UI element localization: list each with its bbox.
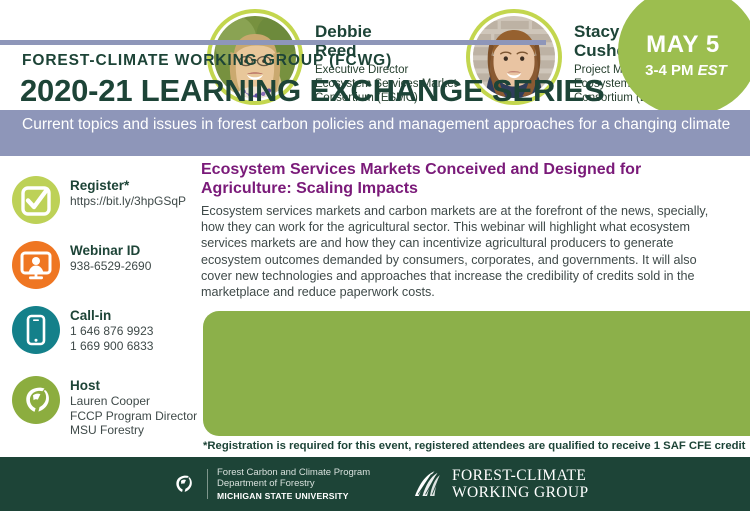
info-title-webinar-id: Webinar ID [70,243,151,259]
fcwg-line2: WORKING GROUP [452,484,589,501]
info-title-callin: Call-in [70,308,153,324]
badge-date: MAY 5 [646,33,720,57]
msu-university: MICHIGAN STATE UNIVERSITY [217,490,370,502]
info-title-host: Host [70,378,197,394]
msu-logo: Forest Carbon and Climate Program Depart… [168,467,370,502]
host-name: Lauren Cooper [70,394,197,409]
fcwg-logo-text: FOREST-CLIMATE WORKING GROUP [452,467,589,501]
badge-time-value: 3-4 PM [645,62,698,79]
fcwg-leaf-icon [412,469,442,499]
footer-bar: Forest Carbon and Climate Program Depart… [0,457,750,511]
host-role: FCCP Program Director [70,409,197,424]
callin-number-2: 1 669 900 6833 [70,339,153,354]
series-title: 2020-21 LEARNING EXCHANGE SERIES [20,73,605,109]
msu-department: Department of Forestry [217,478,370,490]
spartan-helmet-icon [168,469,198,499]
mobile-phone-icon [12,306,60,354]
info-text-host: Host Lauren Cooper FCCP Program Director… [70,376,197,438]
talk-title: Ecosystem Services Markets Conceived and… [201,160,721,198]
talk-description: Ecosystem services markets and carbon ma… [201,203,729,300]
header-rule [0,40,546,45]
webinar-presenter-icon [12,241,60,289]
info-text-webinar-id: Webinar ID 938-6529-2690 [70,241,151,274]
callin-number-1: 1 646 876 9923 [70,324,153,339]
webinar-flyer: MAY 5 3-4 PM EST FOREST-CLIMATE WORKING … [0,0,750,511]
registration-note: *Registration is required for this event… [203,440,745,452]
info-row-webinar-id: Webinar ID 938-6529-2690 [12,241,151,289]
spartan-helmet-icon [12,376,60,424]
info-row-host: Host Lauren Cooper FCCP Program Director… [12,376,197,438]
register-url[interactable]: https://bit.ly/3hpGSqP [70,194,186,209]
subtitle-bar: Current topics and issues in forest carb… [0,110,750,156]
info-text-register: Register* https://bit.ly/3hpGSqP [70,176,186,209]
fcwg-line1: FOREST-CLIMATE [452,467,589,484]
organization-kicker: FOREST-CLIMATE WORKING GROUP (FCWG) [22,52,392,70]
checkbox-check-icon [12,176,60,224]
host-affiliation: MSU Forestry [70,423,197,438]
info-title-register: Register* [70,178,186,194]
msu-program-name: Forest Carbon and Climate Program [217,467,370,479]
msu-logo-text: Forest Carbon and Climate Program Depart… [217,467,370,502]
badge-timezone: EST [698,62,727,79]
speaker-panel [203,311,750,436]
webinar-id-value: 938-6529-2690 [70,259,151,274]
subtitle-text: Current topics and issues in forest carb… [22,115,738,134]
info-row-callin: Call-in 1 646 876 9923 1 669 900 6833 [12,306,153,354]
info-text-callin: Call-in 1 646 876 9923 1 669 900 6833 [70,306,153,353]
badge-time: 3-4 PM EST [645,63,727,78]
logo-divider [207,469,208,499]
fcwg-logo: FOREST-CLIMATE WORKING GROUP [412,467,589,501]
info-row-register[interactable]: Register* https://bit.ly/3hpGSqP [12,176,186,224]
